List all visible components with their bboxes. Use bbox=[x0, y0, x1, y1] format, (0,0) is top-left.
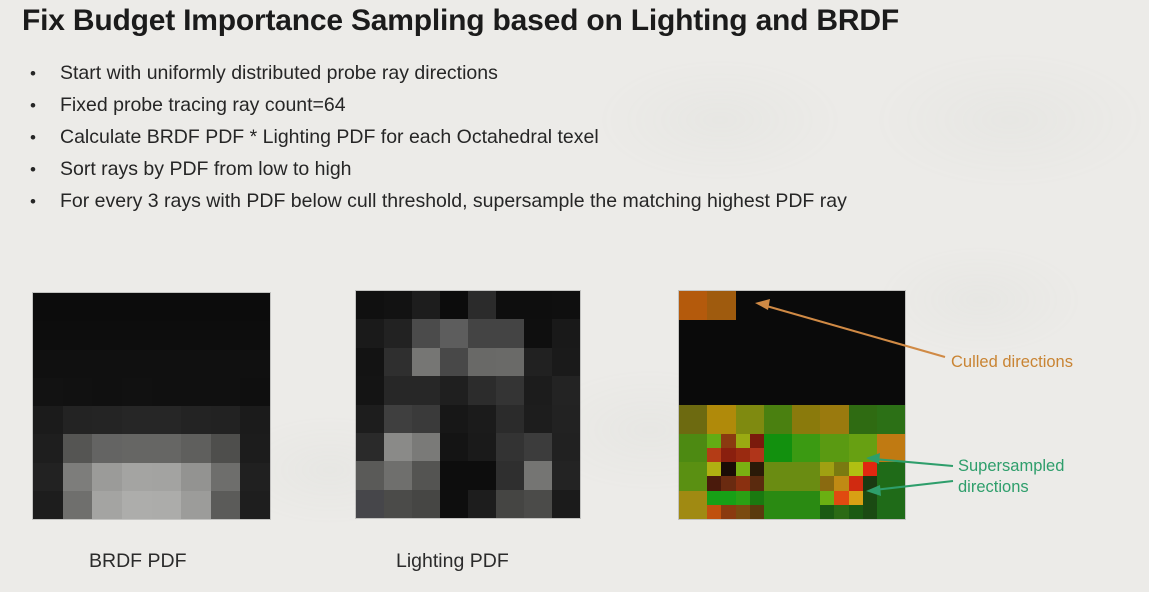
texel bbox=[152, 350, 182, 378]
texel bbox=[412, 376, 440, 404]
texel bbox=[440, 319, 468, 347]
texel bbox=[849, 405, 877, 434]
brdf-pdf-grid bbox=[33, 293, 270, 519]
texel bbox=[92, 463, 122, 491]
texel bbox=[63, 350, 93, 378]
subtexel bbox=[849, 505, 863, 519]
subtexel bbox=[707, 505, 721, 519]
texel bbox=[211, 406, 241, 434]
subtexel bbox=[849, 476, 863, 490]
bullet-text: Start with uniformly distributed probe r… bbox=[60, 62, 498, 85]
texel bbox=[440, 348, 468, 376]
texel bbox=[524, 291, 552, 319]
bullet-marker-icon: • bbox=[22, 128, 60, 148]
texel bbox=[211, 491, 241, 519]
figure-brdf-pdf bbox=[33, 293, 270, 519]
texel bbox=[356, 405, 384, 433]
texel bbox=[92, 406, 122, 434]
texel bbox=[552, 319, 580, 347]
texel bbox=[877, 291, 905, 320]
bullet-marker-icon: • bbox=[22, 64, 60, 84]
texel bbox=[211, 434, 241, 462]
texel bbox=[152, 434, 182, 462]
subtexel bbox=[849, 491, 863, 505]
bullet-marker-icon: • bbox=[22, 192, 60, 212]
texel-supersampled bbox=[736, 434, 764, 463]
texel bbox=[849, 434, 877, 463]
texel bbox=[211, 293, 241, 321]
texel bbox=[92, 321, 122, 349]
texel bbox=[552, 291, 580, 319]
texel bbox=[122, 406, 152, 434]
subtexel bbox=[721, 462, 735, 476]
texel bbox=[792, 491, 820, 520]
subtexel bbox=[863, 462, 877, 476]
texel bbox=[820, 434, 848, 463]
texel bbox=[33, 321, 63, 349]
bullet-text: Calculate BRDF PDF * Lighting PDF for ea… bbox=[60, 126, 599, 149]
texel bbox=[792, 320, 820, 349]
bullet-text: For every 3 rays with PDF below cull thr… bbox=[60, 190, 847, 213]
texel bbox=[552, 490, 580, 518]
texel bbox=[412, 433, 440, 461]
texel bbox=[440, 433, 468, 461]
subtexel bbox=[736, 448, 750, 462]
texel bbox=[122, 463, 152, 491]
texel bbox=[384, 490, 412, 518]
texel bbox=[679, 348, 707, 377]
subtexel bbox=[707, 491, 721, 505]
texel bbox=[412, 319, 440, 347]
texel bbox=[707, 348, 735, 377]
texel bbox=[412, 348, 440, 376]
texel bbox=[764, 291, 792, 320]
texel bbox=[211, 350, 241, 378]
texel bbox=[122, 491, 152, 519]
pdf-product-grid bbox=[679, 291, 905, 519]
texel bbox=[33, 378, 63, 406]
subtexel bbox=[707, 434, 721, 448]
texel bbox=[240, 378, 270, 406]
bullet-text: Sort rays by PDF from low to high bbox=[60, 158, 352, 181]
texel bbox=[496, 433, 524, 461]
texel-supersampled bbox=[707, 434, 735, 463]
texel bbox=[63, 321, 93, 349]
texel bbox=[849, 320, 877, 349]
texel bbox=[181, 321, 211, 349]
texel bbox=[33, 293, 63, 321]
bullet-item: • Start with uniformly distributed probe… bbox=[22, 62, 1137, 94]
texel-supersampled bbox=[849, 462, 877, 491]
texel bbox=[679, 320, 707, 349]
slide-title: Fix Budget Importance Sampling based on … bbox=[22, 4, 1132, 38]
texel bbox=[152, 406, 182, 434]
texel bbox=[33, 463, 63, 491]
bullet-text: Fixed probe tracing ray count=64 bbox=[60, 94, 346, 117]
texel bbox=[468, 348, 496, 376]
texel bbox=[820, 320, 848, 349]
texel bbox=[440, 405, 468, 433]
texel bbox=[707, 291, 735, 320]
subtexel bbox=[736, 462, 750, 476]
texel bbox=[211, 321, 241, 349]
texel bbox=[92, 491, 122, 519]
subtexel bbox=[863, 491, 877, 505]
texel bbox=[356, 376, 384, 404]
caption-lighting-pdf: Lighting PDF bbox=[396, 550, 509, 573]
texel bbox=[412, 291, 440, 319]
texel bbox=[552, 376, 580, 404]
bullet-item: • Sort rays by PDF from low to high bbox=[22, 158, 1137, 190]
texel bbox=[877, 377, 905, 406]
texel bbox=[524, 461, 552, 489]
texel bbox=[384, 348, 412, 376]
bullet-list: • Start with uniformly distributed probe… bbox=[22, 62, 1137, 222]
subtexel bbox=[750, 448, 764, 462]
texel bbox=[181, 463, 211, 491]
subtexel bbox=[736, 505, 750, 519]
texel bbox=[849, 291, 877, 320]
texel-supersampled bbox=[820, 491, 848, 520]
texel bbox=[384, 461, 412, 489]
subtexel bbox=[721, 434, 735, 448]
texel bbox=[122, 378, 152, 406]
texel bbox=[877, 320, 905, 349]
texel bbox=[152, 293, 182, 321]
texel bbox=[63, 463, 93, 491]
texel bbox=[820, 348, 848, 377]
texel bbox=[468, 433, 496, 461]
texel bbox=[33, 406, 63, 434]
texel bbox=[524, 348, 552, 376]
texel bbox=[496, 319, 524, 347]
texel bbox=[63, 434, 93, 462]
texel bbox=[792, 377, 820, 406]
texel bbox=[524, 490, 552, 518]
subtexel bbox=[820, 505, 834, 519]
texel bbox=[524, 405, 552, 433]
texel bbox=[211, 463, 241, 491]
texel bbox=[877, 348, 905, 377]
texel bbox=[33, 434, 63, 462]
texel-supersampled bbox=[707, 462, 735, 491]
subtexel bbox=[721, 448, 735, 462]
texel bbox=[384, 376, 412, 404]
subtexel bbox=[834, 491, 848, 505]
texel bbox=[92, 350, 122, 378]
subtexel bbox=[750, 476, 764, 490]
subtexel bbox=[750, 462, 764, 476]
texel-supersampled bbox=[736, 462, 764, 491]
texel bbox=[122, 293, 152, 321]
annotation-culled-directions: Culled directions bbox=[951, 352, 1073, 373]
texel bbox=[496, 461, 524, 489]
texel bbox=[792, 348, 820, 377]
texel bbox=[384, 319, 412, 347]
texel bbox=[63, 378, 93, 406]
annotation-supersampled-line2: directions bbox=[958, 477, 1064, 498]
slide-root: Fix Budget Importance Sampling based on … bbox=[0, 0, 1149, 592]
texel bbox=[552, 405, 580, 433]
texel bbox=[679, 377, 707, 406]
annotation-supersampled-directions: Supersampled directions bbox=[958, 456, 1064, 498]
texel bbox=[152, 491, 182, 519]
bullet-item: • Calculate BRDF PDF * Lighting PDF for … bbox=[22, 126, 1137, 158]
subtexel bbox=[707, 448, 721, 462]
texel bbox=[524, 433, 552, 461]
texel bbox=[496, 490, 524, 518]
subtexel bbox=[863, 505, 877, 519]
texel bbox=[468, 461, 496, 489]
texel bbox=[820, 377, 848, 406]
subtexel bbox=[721, 491, 735, 505]
texel bbox=[240, 434, 270, 462]
texel bbox=[792, 291, 820, 320]
texel-supersampled bbox=[707, 491, 735, 520]
subtexel bbox=[834, 476, 848, 490]
subtexel bbox=[750, 505, 764, 519]
texel bbox=[240, 321, 270, 349]
texel bbox=[552, 433, 580, 461]
texel bbox=[877, 462, 905, 491]
texel bbox=[679, 491, 707, 520]
texel bbox=[468, 405, 496, 433]
texel bbox=[679, 291, 707, 320]
subtexel bbox=[736, 491, 750, 505]
texel-supersampled bbox=[820, 462, 848, 491]
texel bbox=[736, 405, 764, 434]
texel bbox=[412, 490, 440, 518]
texel bbox=[412, 461, 440, 489]
texel bbox=[440, 461, 468, 489]
texel bbox=[122, 321, 152, 349]
texel bbox=[764, 405, 792, 434]
bullet-item: • For every 3 rays with PDF below cull t… bbox=[22, 190, 1137, 222]
texel-supersampled bbox=[736, 491, 764, 520]
texel bbox=[440, 291, 468, 319]
subtexel bbox=[750, 434, 764, 448]
subtexel bbox=[834, 462, 848, 476]
texel bbox=[764, 462, 792, 491]
subtexel bbox=[707, 462, 721, 476]
texel bbox=[552, 348, 580, 376]
texel bbox=[384, 405, 412, 433]
lighting-pdf-grid bbox=[356, 291, 580, 518]
subtexel bbox=[736, 434, 750, 448]
texel bbox=[877, 405, 905, 434]
texel bbox=[736, 377, 764, 406]
texel bbox=[356, 319, 384, 347]
texel bbox=[468, 319, 496, 347]
texel bbox=[496, 376, 524, 404]
annotation-supersampled-line1: Supersampled bbox=[958, 456, 1064, 477]
texel bbox=[181, 434, 211, 462]
texel bbox=[240, 350, 270, 378]
texel bbox=[211, 378, 241, 406]
texel bbox=[468, 490, 496, 518]
texel bbox=[707, 377, 735, 406]
texel bbox=[679, 405, 707, 434]
texel bbox=[877, 434, 905, 463]
texel bbox=[412, 405, 440, 433]
texel bbox=[356, 433, 384, 461]
bullet-marker-icon: • bbox=[22, 96, 60, 116]
texel bbox=[764, 320, 792, 349]
texel bbox=[792, 434, 820, 463]
texel bbox=[240, 293, 270, 321]
texel bbox=[440, 490, 468, 518]
texel bbox=[764, 434, 792, 463]
texel bbox=[181, 491, 211, 519]
texel bbox=[152, 321, 182, 349]
texel bbox=[707, 405, 735, 434]
texel bbox=[152, 463, 182, 491]
subtexel bbox=[750, 491, 764, 505]
texel bbox=[736, 348, 764, 377]
texel-supersampled bbox=[849, 491, 877, 520]
texel bbox=[764, 348, 792, 377]
subtexel bbox=[820, 476, 834, 490]
subtexel bbox=[820, 462, 834, 476]
bullet-item: • Fixed probe tracing ray count=64 bbox=[22, 94, 1137, 126]
texel bbox=[356, 490, 384, 518]
texel bbox=[679, 434, 707, 463]
texel bbox=[152, 378, 182, 406]
texel bbox=[496, 348, 524, 376]
texel bbox=[384, 433, 412, 461]
texel bbox=[181, 293, 211, 321]
texel bbox=[384, 291, 412, 319]
texel bbox=[440, 376, 468, 404]
texel bbox=[496, 405, 524, 433]
texel bbox=[181, 378, 211, 406]
texel bbox=[764, 491, 792, 520]
subtexel bbox=[863, 476, 877, 490]
texel bbox=[877, 491, 905, 520]
texel bbox=[63, 293, 93, 321]
texel bbox=[679, 462, 707, 491]
texel bbox=[240, 491, 270, 519]
caption-brdf-pdf: BRDF PDF bbox=[89, 550, 187, 573]
bullet-marker-icon: • bbox=[22, 160, 60, 180]
texel bbox=[240, 406, 270, 434]
texel bbox=[764, 377, 792, 406]
figure-pdf-product bbox=[679, 291, 905, 519]
texel bbox=[820, 405, 848, 434]
texel bbox=[356, 291, 384, 319]
texel bbox=[92, 434, 122, 462]
subtexel bbox=[834, 505, 848, 519]
texel bbox=[792, 462, 820, 491]
texel bbox=[63, 406, 93, 434]
subtexel bbox=[736, 476, 750, 490]
texel bbox=[849, 377, 877, 406]
texel bbox=[820, 291, 848, 320]
texel bbox=[181, 350, 211, 378]
subtexel bbox=[820, 491, 834, 505]
texel bbox=[496, 291, 524, 319]
texel bbox=[122, 434, 152, 462]
texel bbox=[468, 376, 496, 404]
texel bbox=[122, 350, 152, 378]
texel bbox=[552, 461, 580, 489]
texel bbox=[524, 319, 552, 347]
texel bbox=[356, 348, 384, 376]
texel bbox=[33, 350, 63, 378]
texel bbox=[736, 320, 764, 349]
texel bbox=[63, 491, 93, 519]
texel bbox=[849, 348, 877, 377]
texel bbox=[92, 293, 122, 321]
subtexel bbox=[721, 505, 735, 519]
texel bbox=[524, 376, 552, 404]
texel bbox=[33, 491, 63, 519]
texel bbox=[468, 291, 496, 319]
subtexel bbox=[849, 462, 863, 476]
texel bbox=[736, 291, 764, 320]
subtexel bbox=[707, 476, 721, 490]
figure-lighting-pdf bbox=[356, 291, 580, 518]
texel bbox=[240, 463, 270, 491]
texel bbox=[356, 461, 384, 489]
texel bbox=[92, 378, 122, 406]
texel bbox=[181, 406, 211, 434]
texel bbox=[707, 320, 735, 349]
texel bbox=[792, 405, 820, 434]
subtexel bbox=[721, 476, 735, 490]
